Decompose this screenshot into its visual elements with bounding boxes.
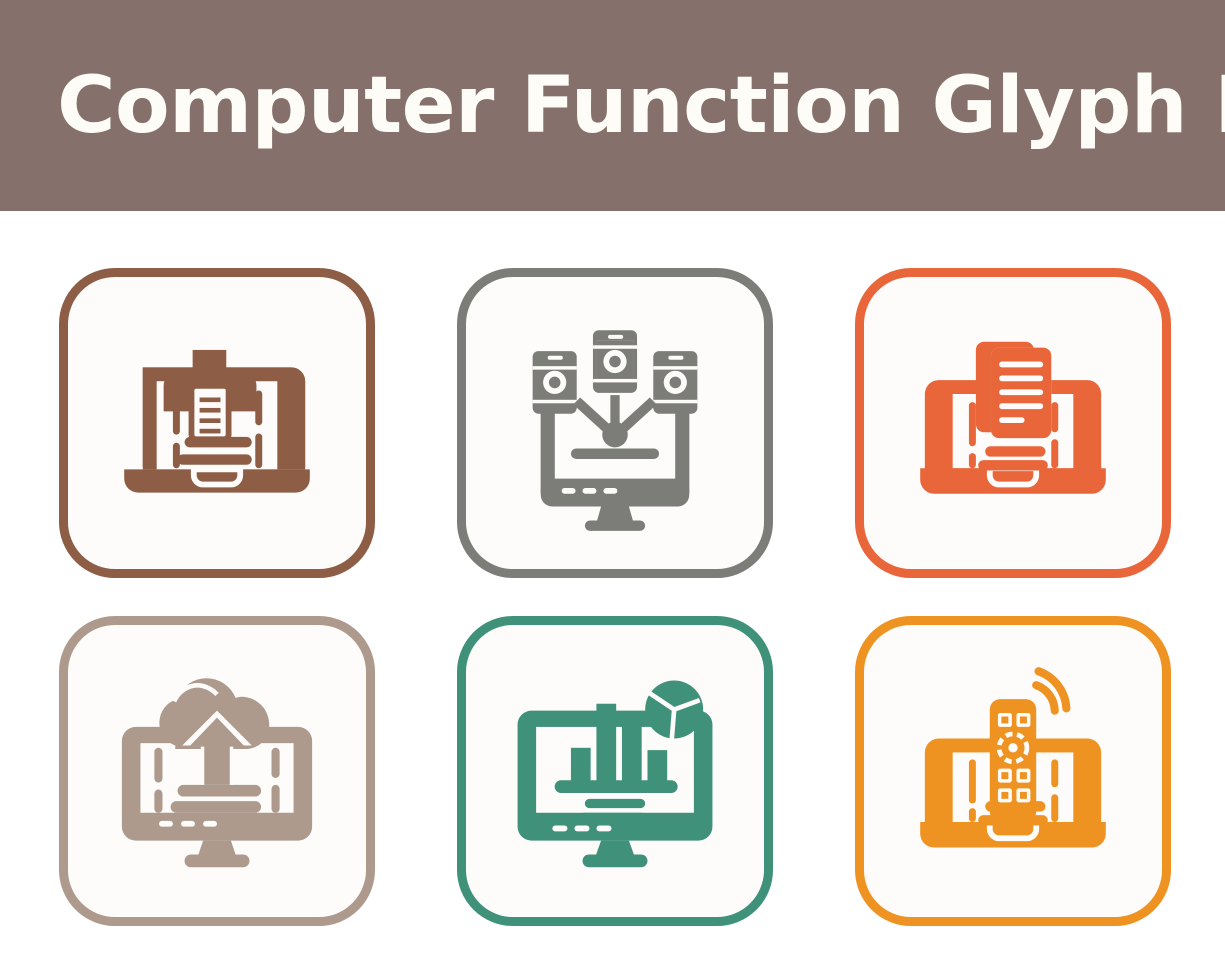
page-title: Computer Function Glyph Icon (0, 67, 1225, 145)
laptop-remote-control-icon (897, 655, 1129, 887)
monitor-analytics-icon (499, 655, 731, 887)
cloud-upload-monitor-icon (101, 655, 333, 887)
multi-device-sync-icon (499, 307, 731, 539)
icon-card-cloud-upload-monitor[interactable] (59, 616, 375, 926)
laptop-printer-icon (101, 307, 333, 539)
icon-sheet-page: Computer Function Glyph Icon (0, 0, 1225, 980)
icon-grid (59, 268, 1171, 926)
icon-card-multi-device-sync[interactable] (457, 268, 773, 578)
icon-card-monitor-analytics[interactable] (457, 616, 773, 926)
icon-card-laptop-documents[interactable] (855, 268, 1171, 578)
laptop-documents-icon (897, 307, 1129, 539)
icon-card-laptop-printer[interactable] (59, 268, 375, 578)
page-header-banner: Computer Function Glyph Icon (0, 0, 1225, 211)
icon-card-laptop-remote-control[interactable] (855, 616, 1171, 926)
